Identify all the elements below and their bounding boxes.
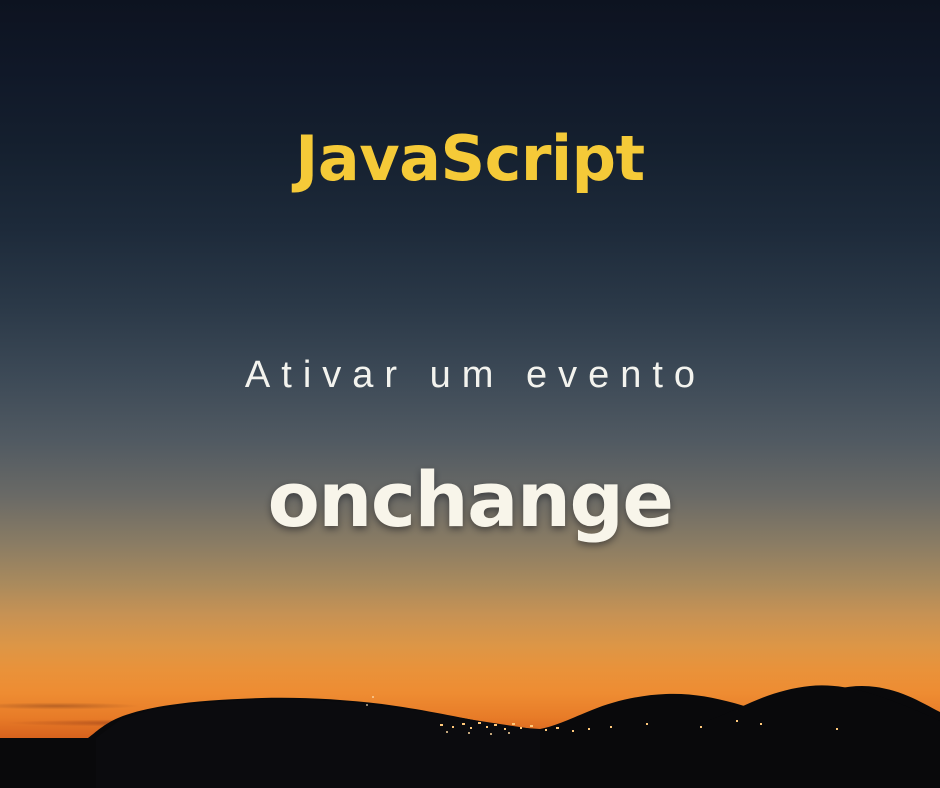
page-title: JavaScript xyxy=(0,128,940,190)
poster-canvas: JavaScript Ativar um evento onchange xyxy=(0,0,940,788)
text-overlay: JavaScript Ativar um evento onchange xyxy=(0,0,940,788)
subtitle-text: Ativar um evento xyxy=(0,356,940,394)
keyword-text: onchange xyxy=(0,462,940,538)
